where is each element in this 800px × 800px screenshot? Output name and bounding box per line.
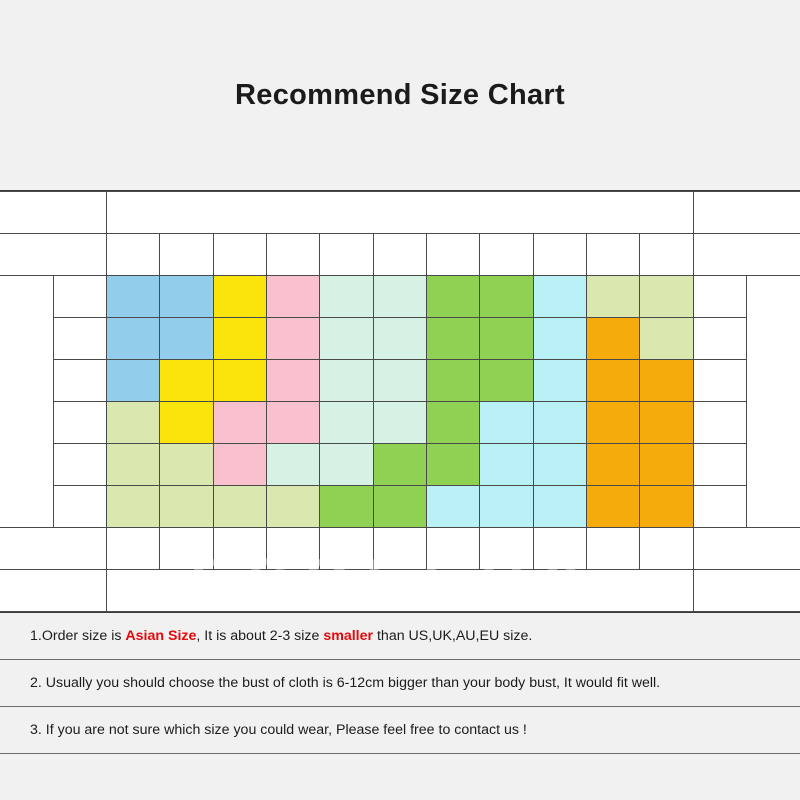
size-cell[interactable] xyxy=(533,402,586,444)
page-title: Recommend Size Chart xyxy=(235,79,565,112)
note-segment: , It is about 2-3 size xyxy=(196,628,323,644)
size-table xyxy=(0,191,800,612)
weight-kg-header xyxy=(427,234,480,276)
height-cm-header xyxy=(53,402,106,444)
height-label-left xyxy=(0,276,53,528)
spacer-bot-right xyxy=(693,570,800,612)
size-cell[interactable] xyxy=(533,360,586,402)
size-cell[interactable] xyxy=(213,276,266,318)
size-cell[interactable] xyxy=(640,402,693,444)
size-cell[interactable] xyxy=(267,444,320,486)
note-highlight: Asian Size xyxy=(125,628,196,644)
size-cell[interactable] xyxy=(587,276,640,318)
size-cell[interactable] xyxy=(480,486,533,528)
height-ft-header xyxy=(693,486,746,528)
note-segment: 2. Usually you should choose the bust of… xyxy=(30,675,660,691)
size-cell[interactable] xyxy=(107,402,160,444)
size-cell[interactable] xyxy=(427,444,480,486)
note-highlight: smaller xyxy=(323,628,373,644)
size-cell[interactable] xyxy=(160,486,213,528)
size-cell[interactable] xyxy=(373,276,426,318)
size-cell[interactable] xyxy=(320,402,373,444)
size-cell[interactable] xyxy=(107,444,160,486)
size-cell[interactable] xyxy=(160,276,213,318)
height-cm-header xyxy=(53,318,106,360)
note-row: 1.Order size is Asian Size, It is about … xyxy=(0,613,800,660)
weight-kg-header xyxy=(640,234,693,276)
height-ft-header xyxy=(693,444,746,486)
size-cell[interactable] xyxy=(587,444,640,486)
weight-lbs-header xyxy=(587,528,640,570)
weight-lbs-header xyxy=(533,528,586,570)
size-chart-page: Recommend Size Chart ESDEEHY 1.Order siz… xyxy=(0,0,800,800)
table-row xyxy=(0,486,800,528)
note-text: 3. If you are not sure which size you co… xyxy=(30,722,527,738)
weight-kg-header xyxy=(213,234,266,276)
weight-kg-header xyxy=(533,234,586,276)
weight-lbs-header xyxy=(373,528,426,570)
height-cm-header xyxy=(53,486,106,528)
size-cell[interactable] xyxy=(640,486,693,528)
size-cell[interactable] xyxy=(320,318,373,360)
size-cell[interactable] xyxy=(373,360,426,402)
size-cell[interactable] xyxy=(107,276,160,318)
table-row xyxy=(0,360,800,402)
size-cell[interactable] xyxy=(640,360,693,402)
spacer-kg-left xyxy=(0,234,107,276)
size-cell[interactable] xyxy=(320,276,373,318)
size-cell[interactable] xyxy=(107,360,160,402)
note-segment: than US,UK,AU,EU size. xyxy=(373,628,532,644)
size-cell[interactable] xyxy=(480,318,533,360)
weight-band-bottom-row xyxy=(0,570,800,612)
title-band: Recommend Size Chart xyxy=(0,0,800,190)
size-cell[interactable] xyxy=(587,486,640,528)
size-cell[interactable] xyxy=(427,486,480,528)
weight-label-top xyxy=(107,192,694,234)
size-cell[interactable] xyxy=(107,318,160,360)
size-cell[interactable] xyxy=(587,402,640,444)
height-cm-header xyxy=(53,444,106,486)
spacer-top-left xyxy=(0,192,107,234)
size-cell[interactable] xyxy=(480,444,533,486)
size-cell[interactable] xyxy=(373,444,426,486)
weight-kg-header-row xyxy=(0,234,800,276)
note-segment: 3. If you are not sure which size you co… xyxy=(30,722,527,738)
size-cell[interactable] xyxy=(640,318,693,360)
size-cell[interactable] xyxy=(267,402,320,444)
size-cell[interactable] xyxy=(160,360,213,402)
height-ft-header xyxy=(693,360,746,402)
weight-lbs-header xyxy=(213,528,266,570)
size-cell[interactable] xyxy=(427,360,480,402)
size-cell[interactable] xyxy=(160,318,213,360)
weight-kg-header xyxy=(587,234,640,276)
size-cell[interactable] xyxy=(427,318,480,360)
weight-lbs-header xyxy=(107,528,160,570)
weight-kg-header xyxy=(320,234,373,276)
weight-lbs-header xyxy=(640,528,693,570)
weight-kg-header xyxy=(267,234,320,276)
weight-kg-header xyxy=(107,234,160,276)
size-cell[interactable] xyxy=(373,402,426,444)
size-cell[interactable] xyxy=(213,444,266,486)
spacer-lbs-left xyxy=(0,528,107,570)
size-cell[interactable] xyxy=(160,444,213,486)
size-cell[interactable] xyxy=(267,276,320,318)
size-cell[interactable] xyxy=(640,276,693,318)
height-label-right xyxy=(747,276,800,528)
size-cell[interactable] xyxy=(587,360,640,402)
weight-lbs-header xyxy=(480,528,533,570)
size-cell[interactable] xyxy=(533,444,586,486)
size-cell[interactable] xyxy=(213,318,266,360)
weight-kg-header xyxy=(160,234,213,276)
note-row: 3. If you are not sure which size you co… xyxy=(0,707,800,754)
weight-kg-header xyxy=(480,234,533,276)
height-cm-header xyxy=(53,276,106,318)
height-ft-header xyxy=(693,402,746,444)
notes-block: 1.Order size is Asian Size, It is about … xyxy=(0,613,800,754)
size-table-container: ESDEEHY xyxy=(0,190,800,613)
note-segment: 1.Order size is xyxy=(30,628,125,644)
height-ft-header xyxy=(693,318,746,360)
size-cell[interactable] xyxy=(267,318,320,360)
size-cell[interactable] xyxy=(533,486,586,528)
weight-band-top-row xyxy=(0,192,800,234)
weight-lbs-header xyxy=(160,528,213,570)
spacer-kg-right xyxy=(693,234,800,276)
size-cell[interactable] xyxy=(640,444,693,486)
size-cell[interactable] xyxy=(533,318,586,360)
weight-lbs-header xyxy=(320,528,373,570)
spacer-lbs-right xyxy=(693,528,800,570)
size-cell[interactable] xyxy=(480,276,533,318)
size-cell[interactable] xyxy=(480,402,533,444)
size-cell[interactable] xyxy=(267,486,320,528)
weight-label-bottom xyxy=(107,570,694,612)
table-row xyxy=(0,276,800,318)
note-text: 2. Usually you should choose the bust of… xyxy=(30,675,660,691)
size-cell[interactable] xyxy=(160,402,213,444)
size-cell[interactable] xyxy=(533,276,586,318)
size-cell[interactable] xyxy=(587,318,640,360)
weight-kg-header xyxy=(373,234,426,276)
note-text: 1.Order size is Asian Size, It is about … xyxy=(30,628,532,644)
weight-lbs-header-row xyxy=(0,528,800,570)
size-cell[interactable] xyxy=(373,486,426,528)
size-cell[interactable] xyxy=(480,360,533,402)
size-cell[interactable] xyxy=(427,276,480,318)
weight-lbs-header xyxy=(267,528,320,570)
weight-lbs-header xyxy=(427,528,480,570)
size-cell[interactable] xyxy=(213,360,266,402)
height-cm-header xyxy=(53,360,106,402)
height-ft-header xyxy=(693,276,746,318)
size-cell[interactable] xyxy=(320,486,373,528)
size-cell[interactable] xyxy=(320,360,373,402)
size-cell[interactable] xyxy=(320,444,373,486)
note-row: 2. Usually you should choose the bust of… xyxy=(0,660,800,707)
spacer-top-right xyxy=(693,192,800,234)
table-row xyxy=(0,318,800,360)
size-cell[interactable] xyxy=(107,486,160,528)
size-cell[interactable] xyxy=(213,486,266,528)
table-row xyxy=(0,444,800,486)
size-cell[interactable] xyxy=(213,402,266,444)
table-row xyxy=(0,402,800,444)
spacer-bot-left xyxy=(0,570,107,612)
size-cell[interactable] xyxy=(373,318,426,360)
size-cell[interactable] xyxy=(267,360,320,402)
size-cell[interactable] xyxy=(427,402,480,444)
